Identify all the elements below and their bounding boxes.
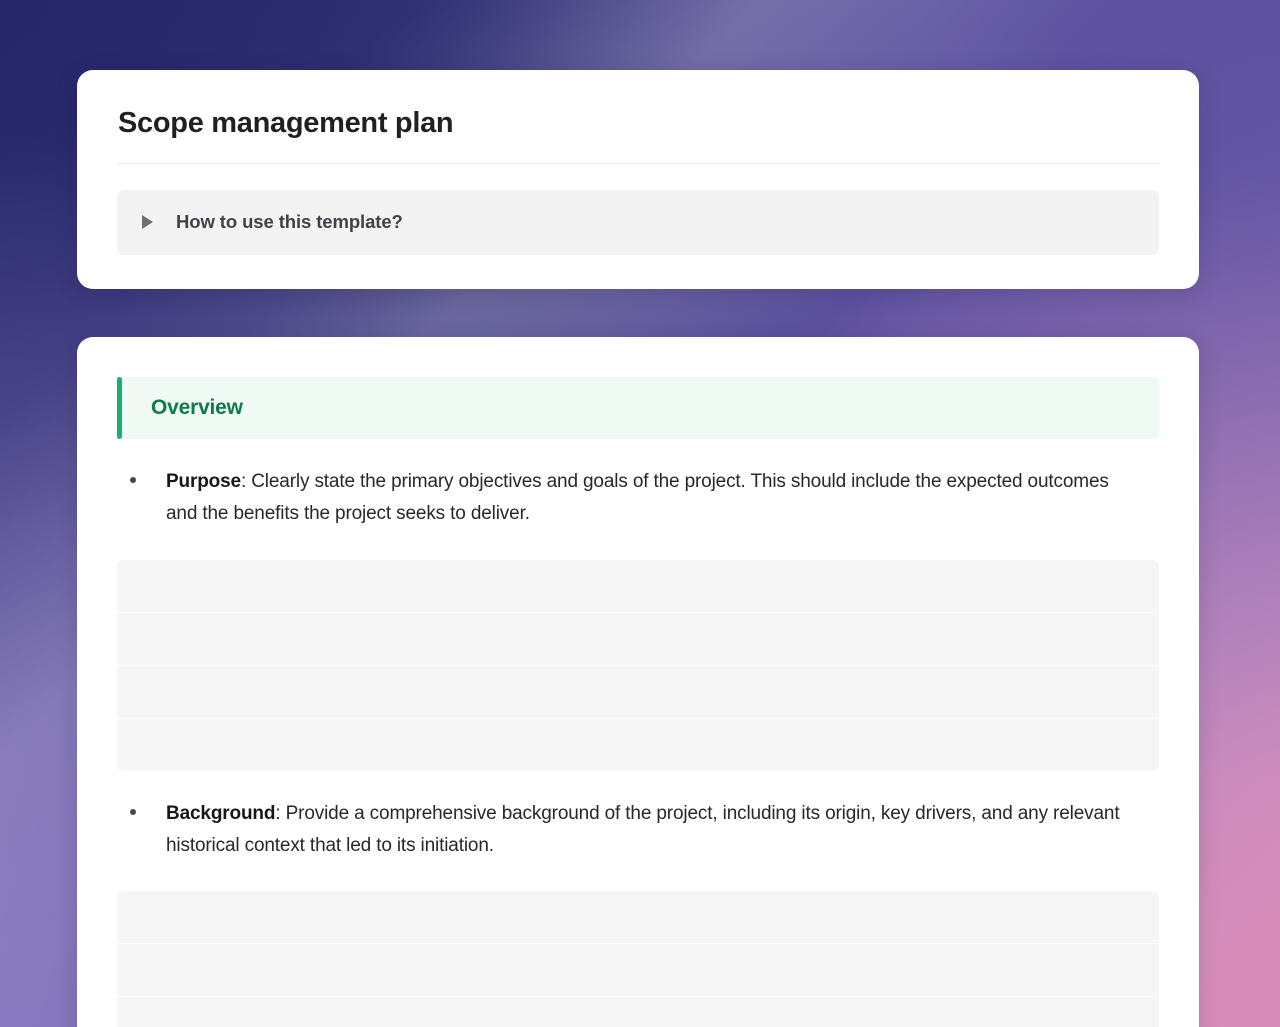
- overview-heading: Overview: [151, 396, 243, 420]
- list-item-term: Background: [166, 803, 275, 824]
- list-item-term: Purpose: [166, 471, 241, 492]
- list-item: Purpose: Clearly state the primary objec…: [117, 466, 1159, 530]
- bullet-dot-icon: [130, 477, 136, 483]
- list-item: Background: Provide a comprehensive back…: [117, 798, 1159, 862]
- list-item-separator: :: [241, 471, 251, 492]
- callout-accent-bar: [117, 377, 122, 439]
- empty-row[interactable]: [117, 997, 1159, 1027]
- overview-callout: Overview: [117, 377, 1159, 439]
- empty-row[interactable]: [117, 666, 1159, 718]
- header-card: Scope management plan How to use this te…: [77, 70, 1199, 289]
- empty-content-block[interactable]: [117, 560, 1159, 771]
- empty-row[interactable]: [117, 944, 1159, 996]
- empty-row[interactable]: [117, 891, 1159, 943]
- list-item-body: Provide a comprehensive background of th…: [166, 803, 1119, 856]
- page-title: Scope management plan: [117, 106, 1159, 141]
- empty-row[interactable]: [117, 613, 1159, 665]
- bullet-dot-icon: [130, 809, 136, 815]
- empty-row[interactable]: [117, 719, 1159, 771]
- how-to-use-toggle-label: How to use this template?: [176, 211, 403, 233]
- empty-row[interactable]: [117, 560, 1159, 612]
- list-item-separator: :: [275, 803, 285, 824]
- overview-card: Overview Purpose: Clearly state the prim…: [77, 337, 1199, 1027]
- title-divider: [117, 163, 1159, 164]
- empty-content-block[interactable]: [117, 891, 1159, 1027]
- list-item-body: Clearly state the primary objectives and…: [166, 471, 1109, 524]
- triangle-right-icon[interactable]: [142, 215, 153, 229]
- list-item-text: Background: Provide a comprehensive back…: [166, 798, 1131, 862]
- list-item-text: Purpose: Clearly state the primary objec…: [166, 466, 1131, 530]
- page-root: Scope management plan How to use this te…: [0, 0, 1280, 1027]
- how-to-use-toggle[interactable]: How to use this template?: [117, 190, 1159, 255]
